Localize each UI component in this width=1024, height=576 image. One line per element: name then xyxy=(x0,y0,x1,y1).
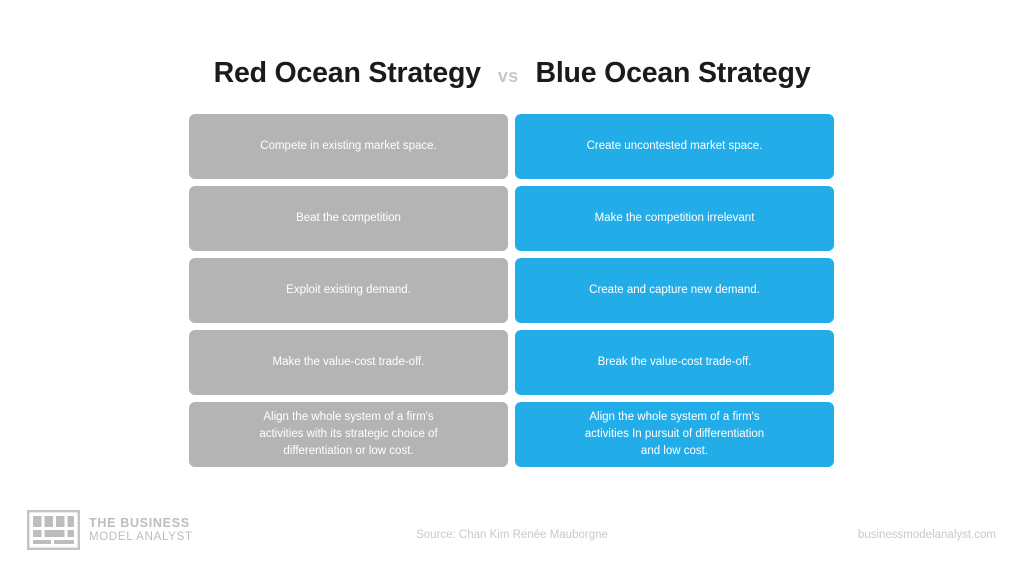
red-ocean-cell-5: Align the whole system of a firm's activ… xyxy=(189,402,508,467)
red-ocean-cell-3-text: Exploit existing demand. xyxy=(286,282,411,299)
blue-ocean-cell-1-text: Create uncontested market space. xyxy=(587,138,763,155)
website-url: businessmodelanalyst.com xyxy=(858,529,996,541)
blue-ocean-cell-2-text: Make the competition irrelevant xyxy=(595,210,755,227)
footer: THE BUSINESS MODEL ANALYST Source: Chan … xyxy=(0,500,1024,576)
red-ocean-cell-2-text: Beat the competition xyxy=(296,210,401,227)
comparison-row: Exploit existing demand. Create and capt… xyxy=(189,258,834,323)
red-ocean-cell-1: Compete in existing market space. xyxy=(189,114,508,179)
title-blue-ocean: Blue Ocean Strategy xyxy=(535,57,810,90)
blue-ocean-cell-5-text: Align the whole system of a firm's activ… xyxy=(585,409,764,460)
blue-ocean-cell-2: Make the competition irrelevant xyxy=(515,186,834,251)
title-red-ocean: Red Ocean Strategy xyxy=(214,57,481,90)
comparison-row: Compete in existing market space. Create… xyxy=(189,114,834,179)
blue-ocean-cell-4-text: Break the value-cost trade-off. xyxy=(598,354,752,371)
comparison-row: Beat the competition Make the competitio… xyxy=(189,186,834,251)
comparison-row: Align the whole system of a firm's activ… xyxy=(189,402,834,467)
blue-ocean-cell-5: Align the whole system of a firm's activ… xyxy=(515,402,834,467)
blue-ocean-cell-1: Create uncontested market space. xyxy=(515,114,834,179)
red-ocean-cell-3: Exploit existing demand. xyxy=(189,258,508,323)
red-ocean-cell-5-text: Align the whole system of a firm's activ… xyxy=(259,409,437,460)
title-versus-separator: vs xyxy=(498,66,519,87)
blue-ocean-cell-4: Break the value-cost trade-off. xyxy=(515,330,834,395)
comparison-row: Make the value-cost trade-off. Break the… xyxy=(189,330,834,395)
comparison-grid: Compete in existing market space. Create… xyxy=(189,114,834,467)
red-ocean-cell-1-text: Compete in existing market space. xyxy=(260,138,436,155)
red-ocean-cell-2: Beat the competition xyxy=(189,186,508,251)
blue-ocean-cell-3: Create and capture new demand. xyxy=(515,258,834,323)
blue-ocean-cell-3-text: Create and capture new demand. xyxy=(589,282,760,299)
red-ocean-cell-4: Make the value-cost trade-off. xyxy=(189,330,508,395)
page-title: Red Ocean Strategy vs Blue Ocean Strateg… xyxy=(0,57,1024,90)
red-ocean-cell-4-text: Make the value-cost trade-off. xyxy=(273,354,425,371)
